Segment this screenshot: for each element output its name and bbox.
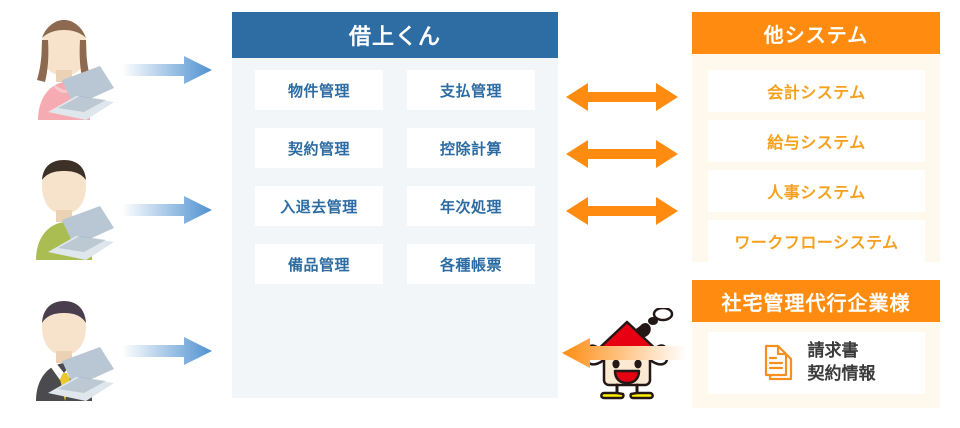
feature-button-keiyaku-kanri[interactable]: 契約管理 <box>255 128 383 168</box>
feature-button-nyutaikyo-kanri[interactable]: 入退去管理 <box>255 186 383 226</box>
documents-icon <box>758 343 794 383</box>
feature-button-grid: 物件管理 支払管理 契約管理 控除計算 入退去管理 年次処理 備品管理 各種帳票 <box>255 70 535 284</box>
system-item-workflow[interactable]: ワークフローシステム <box>708 220 925 262</box>
agency-doc-line-2: 契約情報 <box>808 363 876 386</box>
system-sync-arrow-1 <box>566 82 678 112</box>
agent-to-system-arrow <box>562 336 686 370</box>
man-green-laptop-user-illustration <box>18 148 114 268</box>
feature-button-bukken-kanri[interactable]: 物件管理 <box>255 70 383 110</box>
businessman-laptop-user-illustration <box>18 289 114 409</box>
agency-company-panel: 社宅管理代行企業様 請求書 契約情報 <box>692 280 940 408</box>
feature-button-nenji-shori[interactable]: 年次処理 <box>407 186 535 226</box>
system-item-jinji[interactable]: 人事システム <box>708 170 925 212</box>
system-item-kaikei[interactable]: 会計システム <box>708 70 925 112</box>
system-item-kyuyo[interactable]: 給与システム <box>708 120 925 162</box>
woman-laptop-user-illustration <box>18 8 114 128</box>
user-row-1 <box>0 0 222 140</box>
karikami-system-panel: 借上くん 物件管理 支払管理 契約管理 控除計算 入退去管理 年次処理 備品管理… <box>232 12 558 398</box>
page-title: 借上くん <box>232 12 558 58</box>
feature-button-shiharai-kanri[interactable]: 支払管理 <box>407 70 535 110</box>
diagram-canvas: 借上くん 物件管理 支払管理 契約管理 控除計算 入退去管理 年次処理 備品管理… <box>0 0 960 428</box>
other-systems-title: 他システム <box>692 12 940 54</box>
user-row-2 <box>0 140 222 280</box>
other-systems-panel: 他システム 会計システム 給与システム 人事システム ワークフローシステム <box>692 12 940 262</box>
system-sync-arrow-2 <box>566 139 678 169</box>
other-systems-list: 会計システム 給与システム 人事システム ワークフローシステム <box>708 70 925 270</box>
user-to-system-arrow <box>122 336 212 366</box>
agency-company-title: 社宅管理代行企業様 <box>692 280 940 322</box>
user-to-system-arrow <box>122 55 212 85</box>
agency-doc-line-1: 請求書 <box>808 340 876 363</box>
user-to-system-arrow <box>122 195 212 225</box>
agency-documents-text: 請求書 契約情報 <box>808 340 876 386</box>
user-row-3 <box>0 281 222 421</box>
feature-button-bihin-kanri[interactable]: 備品管理 <box>255 244 383 284</box>
feature-button-kakushu-chohyo[interactable]: 各種帳票 <box>407 244 535 284</box>
agency-documents-card[interactable]: 請求書 契約情報 <box>708 332 925 394</box>
system-sync-arrow-3 <box>566 196 678 226</box>
feature-button-koujo-keisan[interactable]: 控除計算 <box>407 128 535 168</box>
